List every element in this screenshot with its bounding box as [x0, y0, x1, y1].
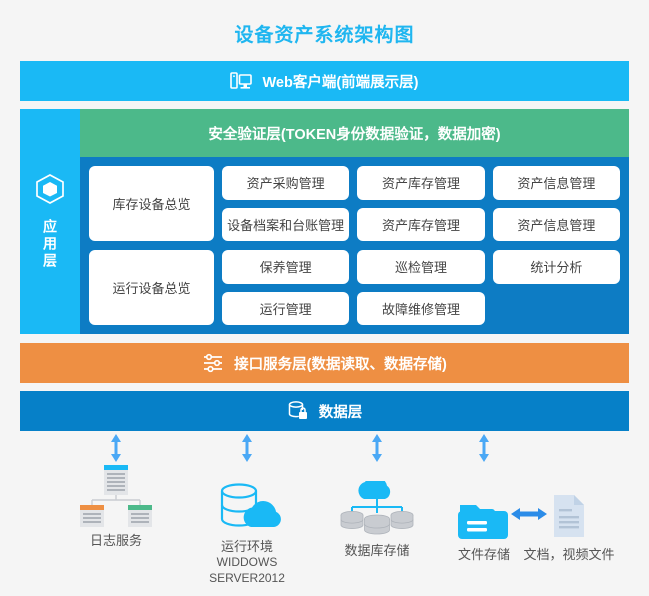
- storage-node-runtime-env[interactable]: 运行环境 WIDDOWS SERVER2012: [187, 471, 307, 586]
- sliders-settings-icon: [202, 352, 224, 374]
- web-client-layer-label: Web客户端(前端展示层): [262, 71, 418, 92]
- storage-node-database[interactable]: 数据库存储: [317, 475, 437, 559]
- database-cloud-icon: [187, 471, 307, 533]
- storage-section: 日志服务 运行环境 WIDDOWS SERVER2012: [20, 431, 629, 591]
- connector-arrows: [20, 433, 629, 463]
- module-box[interactable]: 统计分析: [493, 250, 620, 284]
- document-file-icon: [509, 479, 629, 541]
- module-overview-box[interactable]: 库存设备总览: [89, 166, 214, 241]
- application-layer-label: 应用层: [40, 219, 60, 270]
- vertical-arrow-icon: [107, 433, 125, 463]
- module-box[interactable]: 故障维修管理: [357, 292, 484, 326]
- vertical-arrow-icon: [238, 433, 256, 463]
- module-columns: 保养管理 运行管理 巡检管理 故障维修管理 统计分析: [222, 250, 620, 325]
- vertical-arrow-icon: [475, 433, 493, 463]
- module-row: 库存设备总览 资产采购管理 设备档案和台账管理 资产库存管理 资产库存管理 资产…: [89, 166, 620, 241]
- module-box[interactable]: 资产库存管理: [357, 166, 484, 200]
- module-column: 资产采购管理 设备档案和台账管理: [222, 166, 349, 241]
- desktop-computer-icon: [230, 71, 252, 91]
- document-hierarchy-icon: [56, 465, 176, 527]
- application-layer-content: 安全验证层(TOKEN身份数据验证，数据加密) 库存设备总览 资产采购管理 设备…: [80, 109, 629, 334]
- storage-node-documents[interactable]: 文档，视频文件: [509, 479, 629, 563]
- interface-service-layer: 接口服务层(数据读取、数据存储): [20, 343, 629, 383]
- cloud-databases-icon: [317, 475, 437, 537]
- security-layer-label: 安全验证层(TOKEN身份数据验证，数据加密): [208, 123, 500, 144]
- module-columns: 资产采购管理 设备档案和台账管理 资产库存管理 资产库存管理 资产信息管理 资产…: [222, 166, 620, 241]
- module-column: 巡检管理 故障维修管理: [357, 250, 484, 325]
- application-layer-sidebar: 应用层: [20, 109, 80, 334]
- interface-service-layer-label: 接口服务层(数据读取、数据存储): [234, 353, 447, 374]
- module-overview-box[interactable]: 运行设备总览: [89, 250, 214, 325]
- module-box-empty: [493, 292, 620, 326]
- storage-nodes: 日志服务 运行环境 WIDDOWS SERVER2012: [20, 465, 629, 591]
- vertical-arrow-icon: [368, 433, 386, 463]
- module-column: 资产信息管理 资产信息管理: [493, 166, 620, 241]
- storage-node-sublabel: WIDDOWS SERVER2012: [187, 555, 307, 586]
- cube-icon: [35, 173, 65, 210]
- module-box[interactable]: 运行管理: [222, 292, 349, 326]
- security-layer: 安全验证层(TOKEN身份数据验证，数据加密): [80, 109, 629, 157]
- storage-node-log-service[interactable]: 日志服务: [56, 465, 176, 549]
- module-row: 运行设备总览 保养管理 运行管理 巡检管理 故障维修管理 统计分析: [89, 250, 620, 325]
- module-column: 资产库存管理 资产库存管理: [357, 166, 484, 241]
- storage-node-label: 日志服务: [56, 533, 176, 549]
- module-column: 保养管理 运行管理: [222, 250, 349, 325]
- application-layer: 应用层 安全验证层(TOKEN身份数据验证，数据加密) 库存设备总览 资产采购管…: [20, 109, 629, 334]
- module-box[interactable]: 设备档案和台账管理: [222, 208, 349, 242]
- module-box[interactable]: 资产库存管理: [357, 208, 484, 242]
- module-grid: 库存设备总览 资产采购管理 设备档案和台账管理 资产库存管理 资产库存管理 资产…: [80, 157, 629, 334]
- database-lock-icon: [287, 400, 309, 422]
- data-layer-label: 数据层: [319, 401, 363, 422]
- page-title: 设备资产系统架构图: [0, 0, 649, 61]
- web-client-layer: Web客户端(前端展示层): [20, 61, 629, 101]
- module-column: 统计分析: [493, 250, 620, 325]
- data-layer: 数据层: [20, 391, 629, 431]
- module-box[interactable]: 资产采购管理: [222, 166, 349, 200]
- module-box[interactable]: 巡检管理: [357, 250, 484, 284]
- module-box[interactable]: 保养管理: [222, 250, 349, 284]
- storage-node-label: 数据库存储: [317, 543, 437, 559]
- storage-node-label: 文档，视频文件: [499, 547, 639, 563]
- module-box[interactable]: 资产信息管理: [493, 166, 620, 200]
- module-box[interactable]: 资产信息管理: [493, 208, 620, 242]
- storage-node-label: 运行环境: [187, 539, 307, 555]
